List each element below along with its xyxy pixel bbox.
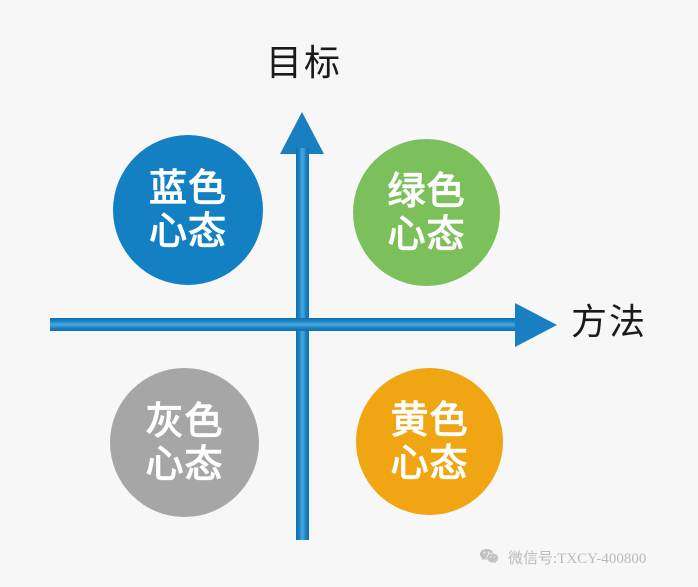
bubble-label-line1: 蓝色 <box>149 167 227 210</box>
bubble-label-line2: 心态 <box>390 442 468 485</box>
bubble-label-line2: 心态 <box>149 210 227 253</box>
bubble-label-line1: 灰色 <box>145 400 223 443</box>
watermark: 微信号:TXCY-400800 <box>478 546 646 568</box>
horizontal-axis-line <box>50 318 520 331</box>
horizontal-axis-label: 方法 <box>571 305 647 341</box>
quadrant-bubble-green[interactable]: 绿色 心态 <box>353 139 500 286</box>
quadrant-bubble-orange[interactable]: 黄色 心态 <box>356 368 503 515</box>
vertical-axis-label: 目标 <box>266 46 342 82</box>
quadrant-bubble-gray[interactable]: 灰色 心态 <box>110 368 259 517</box>
wechat-icon <box>478 546 500 568</box>
bubble-label-line1: 绿色 <box>387 170 465 213</box>
arrow-right-icon <box>515 303 557 347</box>
diagram-canvas: 目标 方法 蓝色 心态 绿色 心态 灰色 心态 黄色 心态 微信号:TXCY-4… <box>0 0 698 587</box>
bubble-label-line2: 心态 <box>387 213 465 256</box>
vertical-axis-line <box>296 148 309 540</box>
bubble-label-line1: 黄色 <box>390 399 468 442</box>
watermark-text: 微信号:TXCY-400800 <box>508 547 646 568</box>
quadrant-bubble-blue[interactable]: 蓝色 心态 <box>113 135 263 285</box>
bubble-label-line2: 心态 <box>145 443 223 486</box>
